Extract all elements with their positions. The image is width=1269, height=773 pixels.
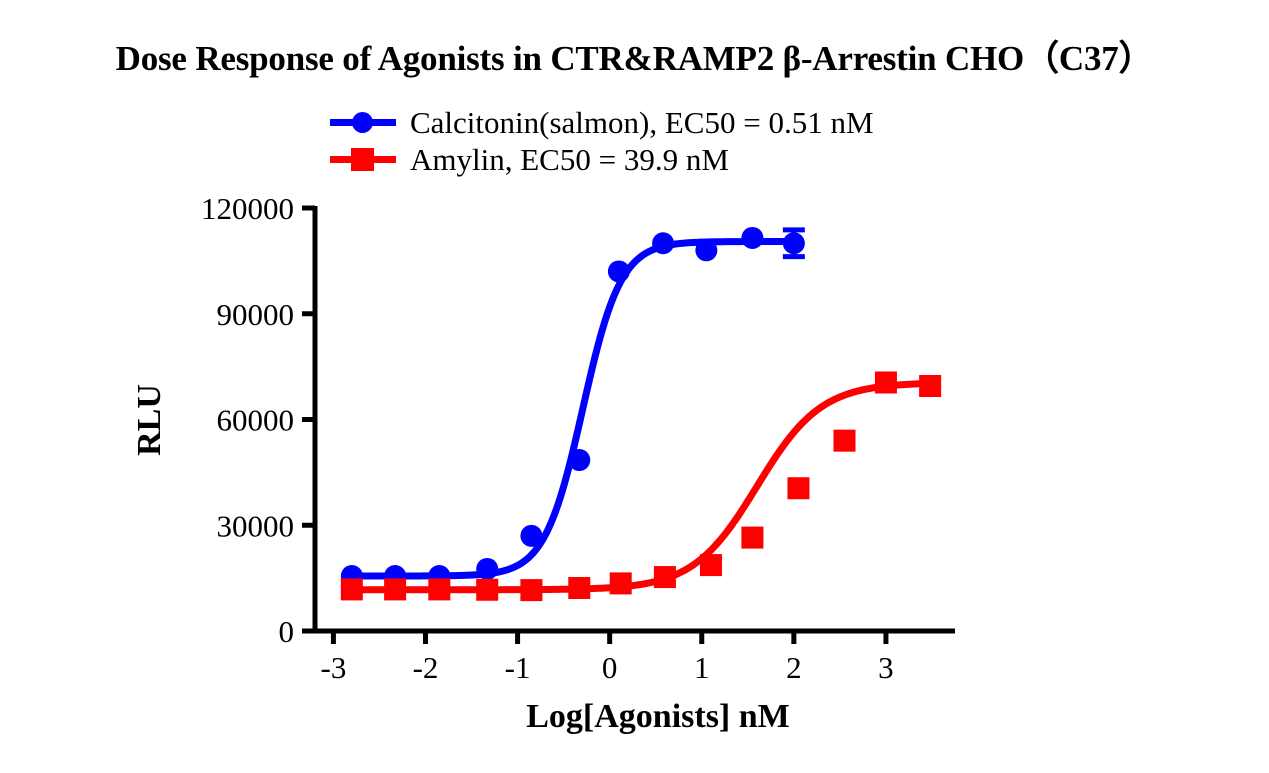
data-point-marker bbox=[700, 554, 722, 576]
x-axis-tick-label: 3 bbox=[878, 650, 894, 685]
x-axis-tick-label: 2 bbox=[786, 650, 802, 685]
y-axis-title: RLU bbox=[131, 384, 168, 456]
x-axis-tick-label: -3 bbox=[321, 650, 347, 685]
data-point-marker bbox=[652, 232, 674, 254]
data-point-marker bbox=[741, 227, 763, 249]
y-axis-tick-label: 0 bbox=[279, 614, 295, 649]
data-point-marker bbox=[568, 449, 590, 471]
data-point-marker bbox=[783, 232, 805, 254]
data-point-marker bbox=[741, 527, 763, 549]
series-fit-curve-amylin bbox=[352, 383, 930, 589]
x-axis-title: Log[Agonists] nM bbox=[526, 698, 790, 735]
data-point-marker bbox=[608, 260, 630, 282]
data-point-marker bbox=[568, 577, 590, 599]
y-axis-tick-label: 90000 bbox=[217, 297, 295, 332]
data-point-marker bbox=[875, 371, 897, 393]
x-axis-tick-label: -2 bbox=[413, 650, 439, 685]
y-axis: 0300006000090000120000 bbox=[201, 191, 315, 649]
data-series-group bbox=[341, 227, 941, 601]
y-axis-tick-label: 120000 bbox=[201, 191, 294, 226]
x-axis-tick-label: 0 bbox=[602, 650, 618, 685]
plot-area: 0300006000090000120000 -3-2-10123 Log[Ag… bbox=[0, 0, 1269, 773]
data-point-marker bbox=[610, 572, 632, 594]
data-point-marker bbox=[919, 375, 941, 397]
data-point-marker bbox=[476, 558, 498, 580]
data-point-marker bbox=[654, 566, 676, 588]
chart-figure: Dose Response of Agonists in CTR&RAMP2 β… bbox=[0, 0, 1269, 773]
data-point-marker bbox=[787, 477, 809, 499]
x-axis: -3-2-10123 bbox=[313, 631, 955, 685]
data-point-marker bbox=[384, 578, 406, 600]
y-axis-tick-label: 30000 bbox=[217, 508, 295, 543]
data-point-marker bbox=[833, 430, 855, 452]
data-point-marker bbox=[520, 525, 542, 547]
x-axis-tick-label: -1 bbox=[505, 650, 531, 685]
data-point-marker bbox=[428, 578, 450, 600]
x-axis-tick-label: 1 bbox=[694, 650, 710, 685]
data-point-marker bbox=[476, 579, 498, 601]
data-point-marker bbox=[695, 239, 717, 261]
data-point-marker bbox=[520, 579, 542, 601]
y-axis-tick-label: 60000 bbox=[217, 403, 295, 438]
data-point-marker bbox=[341, 578, 363, 600]
